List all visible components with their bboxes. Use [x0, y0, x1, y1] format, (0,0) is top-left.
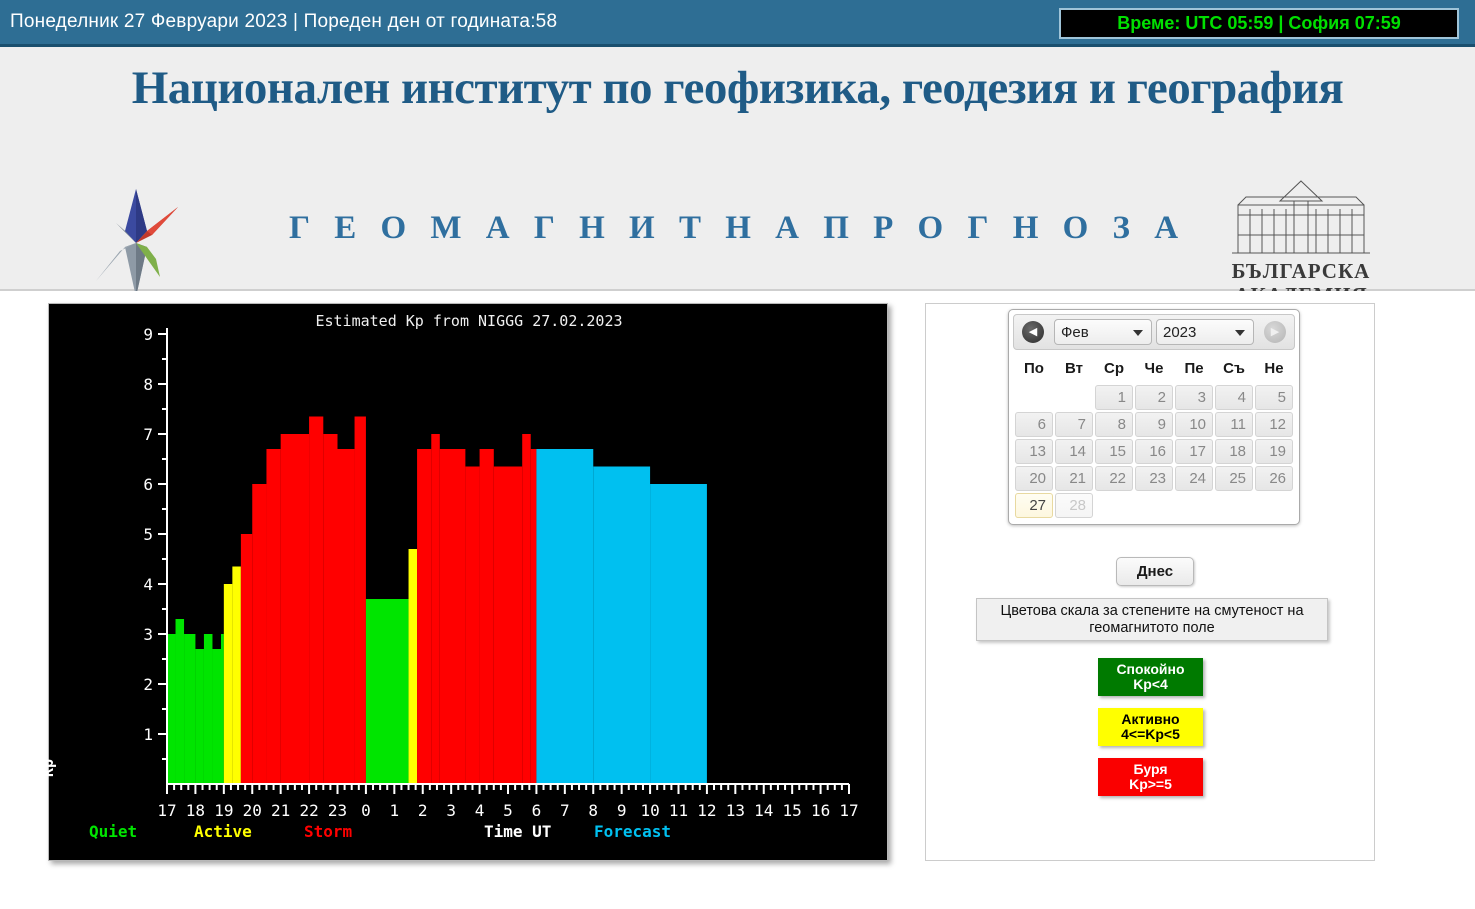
- calendar-week-row: 6789101112: [1015, 412, 1293, 437]
- x-tick-label-23: 23: [328, 801, 347, 820]
- bas-line-1: БЪЛГАРСКА: [1210, 259, 1392, 284]
- calendar-day-14[interactable]: 14: [1055, 439, 1093, 464]
- legend-chip-active-range: 4<=Kp<5: [1121, 727, 1180, 742]
- calendar-empty-cell: [1055, 385, 1093, 410]
- calendar-empty-cell: [1135, 493, 1173, 518]
- calendar-day-28[interactable]: 28: [1055, 493, 1093, 518]
- bar-2-19: [417, 449, 431, 784]
- year-select[interactable]: 2023: [1156, 319, 1254, 345]
- x-tick-label-8: 8: [588, 801, 598, 820]
- calendar-day-8[interactable]: 8: [1095, 412, 1133, 437]
- bar-2-20: [431, 434, 440, 784]
- main-content: Estimated Kp from NIGGG 27.02.2023 Kp 12…: [0, 291, 1475, 909]
- bar-18-4: [204, 634, 213, 784]
- bar-23-15: [338, 449, 355, 784]
- x-tick-label-17: 17: [157, 801, 176, 820]
- bar-3-22: [465, 467, 479, 785]
- calendar-day-7[interactable]: 7: [1055, 412, 1093, 437]
- clock-text: Време: UTC 05:59 | София 07:59: [1117, 13, 1401, 34]
- bar-17-1: [176, 619, 185, 784]
- date-line: Понеделник 27 Февруари 2023 | Пореден де…: [10, 11, 557, 33]
- chevron-down-icon: [1133, 330, 1143, 336]
- institute-title: Национален институт по геофизика, геодез…: [0, 61, 1475, 115]
- legend-chip-storm: Буря Kp>=5: [1098, 758, 1203, 796]
- y-tick-label-4: 4: [143, 575, 153, 594]
- bar-10-29: [650, 484, 707, 784]
- calendar-empty-cell: [1095, 493, 1133, 518]
- bar-20-11: [266, 449, 280, 784]
- kp-chart-panel: Estimated Kp from NIGGG 27.02.2023 Kp 12…: [48, 303, 888, 861]
- calendar-day-2[interactable]: 2: [1135, 385, 1173, 410]
- calendar-grid: ПоВтСрЧеПеСъНе 1234567891011121314151617…: [1013, 354, 1295, 520]
- bar-5-26: [531, 449, 537, 784]
- bar-2-21: [440, 449, 466, 784]
- scale-caption: Цветова скала за степените на смутеност …: [976, 598, 1328, 641]
- calendar-weekday-Съ: Съ: [1215, 356, 1253, 383]
- bar-0-17: [366, 599, 409, 784]
- clock-panel: Време: UTC 05:59 | София 07:59: [1059, 8, 1459, 39]
- calendar-weekday-Пе: Пе: [1175, 356, 1213, 383]
- calendar-day-3[interactable]: 3: [1175, 385, 1213, 410]
- x-tick-label-19: 19: [214, 801, 233, 820]
- calendar-day-12[interactable]: 12: [1255, 412, 1293, 437]
- bar-4-23: [480, 449, 494, 784]
- bar-4-24: [494, 467, 522, 785]
- calendar-day-24[interactable]: 24: [1175, 466, 1213, 491]
- bar-6-27: [536, 449, 593, 784]
- bar-19-9: [241, 534, 252, 784]
- y-tick-label-5: 5: [143, 525, 153, 544]
- x-tick-label-20: 20: [243, 801, 262, 820]
- bar-5-25: [522, 434, 531, 784]
- calendar-day-22[interactable]: 22: [1095, 466, 1133, 491]
- bar-17-2: [184, 634, 195, 784]
- calendar-day-23[interactable]: 23: [1135, 466, 1173, 491]
- month-select-value: Фев: [1061, 324, 1089, 341]
- x-tick-label-13: 13: [726, 801, 745, 820]
- calendar-day-6[interactable]: 6: [1015, 412, 1053, 437]
- chart-legend: QuietActiveStormTime UTForecast: [49, 822, 889, 846]
- bar-18-5: [212, 649, 221, 784]
- next-month-icon[interactable]: ▶: [1264, 321, 1286, 343]
- calendar-day-10[interactable]: 10: [1175, 412, 1213, 437]
- chart-legend-active: Active: [194, 822, 252, 841]
- calendar-day-rows: 1234567891011121314151617181920212223242…: [1015, 385, 1293, 518]
- calendar-day-13[interactable]: 13: [1015, 439, 1053, 464]
- bar-22-14: [323, 434, 337, 784]
- calendar-weekday-Не: Не: [1255, 356, 1293, 383]
- calendar-week-row: 13141516171819: [1015, 439, 1293, 464]
- x-tick-label-12: 12: [697, 801, 716, 820]
- x-tick-label-7: 7: [560, 801, 570, 820]
- bar-17-0: [167, 634, 176, 784]
- calendar-empty-cell: [1255, 493, 1293, 518]
- sidebar-panel: ◀ Фев 2023 ▶ ПоВтСрЧеПеСъНе 123456789101…: [925, 303, 1375, 861]
- x-tick-label-2: 2: [418, 801, 428, 820]
- y-tick-label-7: 7: [143, 425, 153, 444]
- calendar-day-5[interactable]: 5: [1255, 385, 1293, 410]
- calendar-day-20[interactable]: 20: [1015, 466, 1053, 491]
- y-tick-label-3: 3: [143, 625, 153, 644]
- bar-19-7: [224, 584, 233, 784]
- chevron-down-icon: [1235, 330, 1245, 336]
- calendar-day-18[interactable]: 18: [1215, 439, 1253, 464]
- x-tick-label-1: 1: [390, 801, 400, 820]
- calendar-day-16[interactable]: 16: [1135, 439, 1173, 464]
- x-tick-label-11: 11: [669, 801, 688, 820]
- calendar-day-9[interactable]: 9: [1135, 412, 1173, 437]
- chart-legend-storm: Storm: [304, 822, 352, 841]
- calendar-empty-cell: [1175, 493, 1213, 518]
- y-tick-label-9: 9: [143, 325, 153, 344]
- y-tick-label-2: 2: [143, 675, 153, 694]
- legend-chip-quiet-range: Kp<4: [1133, 677, 1168, 692]
- legend-chip-storm-title: Буря: [1133, 762, 1167, 777]
- calendar-day-1[interactable]: 1: [1095, 385, 1133, 410]
- legend-chip-quiet-title: Спокойно: [1116, 662, 1184, 677]
- calendar-day-21[interactable]: 21: [1055, 466, 1093, 491]
- bar-20-10: [252, 484, 266, 784]
- calendar-day-26[interactable]: 26: [1255, 466, 1293, 491]
- bar-8-28: [593, 467, 650, 785]
- x-tick-label-18: 18: [186, 801, 205, 820]
- x-tick-label-21: 21: [271, 801, 290, 820]
- today-button[interactable]: Днес: [1116, 557, 1194, 586]
- x-tick-label-0: 0: [361, 801, 371, 820]
- chart-legend-time-ut: Time UT: [484, 822, 551, 841]
- x-tick-label-17: 17: [839, 801, 858, 820]
- chart-legend-forecast: Forecast: [594, 822, 671, 841]
- top-bar: Понеделник 27 Февруари 2023 | Пореден де…: [0, 0, 1475, 47]
- niggg-compass-logo: [90, 185, 182, 301]
- calendar-week-row: 12345: [1015, 385, 1293, 410]
- x-tick-label-5: 5: [503, 801, 513, 820]
- prev-month-icon[interactable]: ◀: [1022, 321, 1044, 343]
- month-select[interactable]: Фев: [1054, 319, 1152, 345]
- x-tick-label-3: 3: [446, 801, 456, 820]
- x-tick-label-16: 16: [811, 801, 830, 820]
- legend-chip-storm-range: Kp>=5: [1129, 777, 1172, 792]
- year-select-value: 2023: [1163, 324, 1196, 341]
- calendar-weekday-Ср: Ср: [1095, 356, 1133, 383]
- x-tick-label-10: 10: [640, 801, 659, 820]
- calendar-empty-cell: [1015, 385, 1053, 410]
- calendar-weekday-Вт: Вт: [1055, 356, 1093, 383]
- bar-1-18: [409, 549, 418, 784]
- date-picker-calendar[interactable]: ◀ Фев 2023 ▶ ПоВтСрЧеПеСъНе 123456789101…: [1008, 309, 1300, 525]
- x-tick-label-22: 22: [299, 801, 318, 820]
- x-tick-label-14: 14: [754, 801, 773, 820]
- calendar-day-27[interactable]: 27: [1015, 493, 1053, 518]
- y-tick-label-6: 6: [143, 475, 153, 494]
- bar-21-12: [281, 434, 309, 784]
- kp-plot: 1234567891718192021222301234567891011121…: [49, 304, 889, 824]
- calendar-weekday-По: По: [1015, 356, 1053, 383]
- x-tick-label-6: 6: [532, 801, 542, 820]
- calendar-week-row: 2728: [1015, 493, 1293, 518]
- calendar-empty-cell: [1215, 493, 1253, 518]
- x-tick-label-9: 9: [617, 801, 627, 820]
- calendar-day-17[interactable]: 17: [1175, 439, 1213, 464]
- calendar-day-25[interactable]: 25: [1215, 466, 1253, 491]
- y-tick-label-1: 1: [143, 725, 153, 744]
- legend-chip-quiet: Спокойно Kp<4: [1098, 658, 1203, 696]
- legend-chip-active-title: Активно: [1121, 712, 1179, 727]
- bar-22-13: [309, 417, 323, 785]
- calendar-day-4[interactable]: 4: [1215, 385, 1253, 410]
- bar-23-16: [355, 417, 366, 785]
- y-tick-label-8: 8: [143, 375, 153, 394]
- site-header: Национален институт по геофизика, геодез…: [0, 47, 1475, 291]
- calendar-weekday-Че: Че: [1135, 356, 1173, 383]
- chart-legend-quiet: Quiet: [89, 822, 137, 841]
- calendar-week-row: 20212223242526: [1015, 466, 1293, 491]
- calendar-day-19[interactable]: 19: [1255, 439, 1293, 464]
- calendar-day-15[interactable]: 15: [1095, 439, 1133, 464]
- bar-19-6: [221, 634, 224, 784]
- calendar-day-11[interactable]: 11: [1215, 412, 1253, 437]
- calendar-weekday-row: ПоВтСрЧеПеСъНе: [1015, 356, 1293, 383]
- legend-chip-active: Активно 4<=Kp<5: [1098, 708, 1203, 746]
- bar-18-3: [195, 649, 204, 784]
- bar-19-8: [232, 567, 241, 785]
- calendar-header: ◀ Фев 2023 ▶: [1013, 314, 1295, 350]
- x-tick-label-4: 4: [475, 801, 485, 820]
- x-tick-label-15: 15: [783, 801, 802, 820]
